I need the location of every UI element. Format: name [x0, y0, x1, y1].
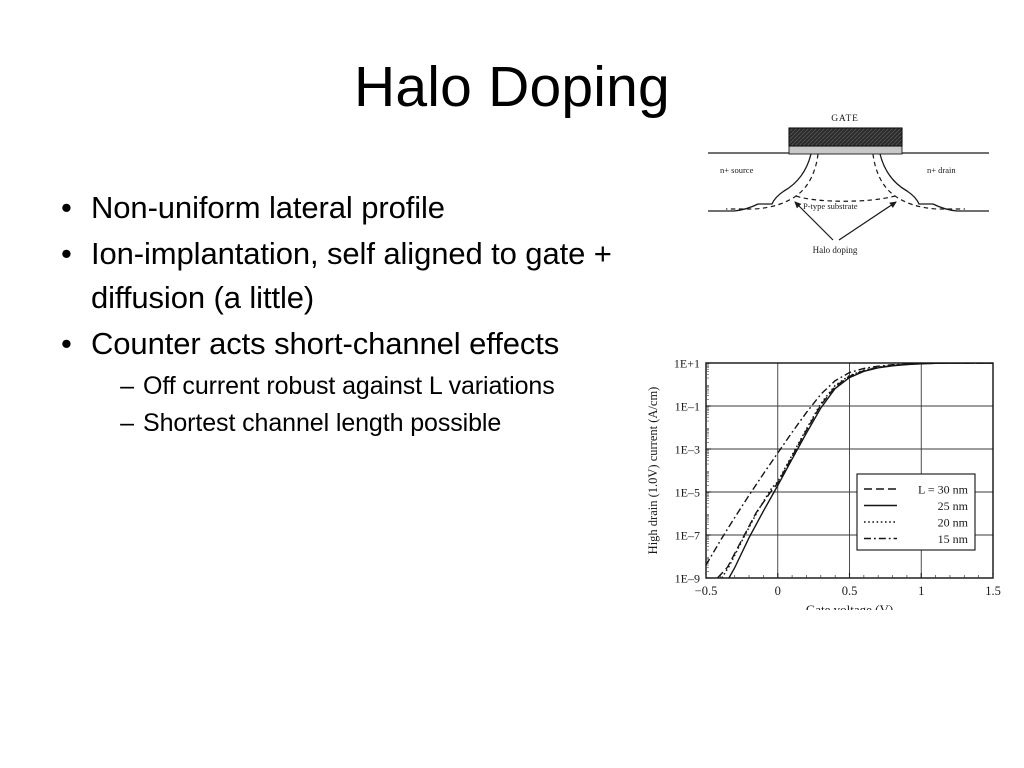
- sub-list-item: – Off current robust against L variation…: [55, 368, 655, 405]
- y-axis-label: High drain (1.0V) current (A/cm): [646, 387, 660, 555]
- bullet-list: • Non-uniform lateral profile • Ion-impl…: [55, 186, 655, 442]
- x-tick-label: 1.5: [985, 584, 1001, 598]
- chart-x-tick-labels: −0.500.511.5: [695, 584, 1001, 598]
- source-label: n+ source: [720, 165, 754, 175]
- list-item: • Ion-implantation, self aligned to gate…: [55, 232, 655, 320]
- bullet-text: Ion-implantation, self aligned to gate +…: [91, 232, 655, 320]
- dash-marker-icon: –: [55, 368, 143, 405]
- sub-bullet-text: Off current robust against L variations: [143, 368, 655, 405]
- gate-oxide-layer: [789, 146, 902, 154]
- legend-label-2: 20 nm: [938, 516, 969, 530]
- gate-electrode: [789, 128, 902, 146]
- legend-label-0: L = 30 nm: [918, 483, 969, 497]
- chart-legend: L = 30 nm25 nm20 nm15 nm: [857, 474, 975, 550]
- x-tick-label: 0: [775, 584, 781, 598]
- chart-y-tick-labels: 1E+11E–11E–31E–51E–71E–9: [674, 357, 700, 586]
- y-tick-label: 1E–5: [675, 486, 700, 500]
- y-tick-label: 1E–1: [675, 400, 700, 414]
- sub-list-item: – Shortest channel length possible: [55, 405, 655, 442]
- x-tick-label: −0.5: [695, 584, 718, 598]
- bullet-marker-icon: •: [55, 232, 91, 276]
- legend-label-1: 25 nm: [938, 499, 969, 513]
- x-axis-label: Gate voltage (V): [806, 602, 893, 610]
- drain-halo-contour: [873, 154, 965, 209]
- halo-doping-label: Halo doping: [813, 245, 858, 255]
- drain-junction-outline: [880, 154, 989, 211]
- drain-current-vs-gate-voltage-chart: −0.500.511.5 1E+11E–11E–31E–51E–71E–9 L …: [643, 348, 1003, 610]
- y-tick-label: 1E–7: [675, 529, 700, 543]
- gate-label: GATE: [831, 114, 858, 124]
- bullet-text: Counter acts short-channel effects: [91, 322, 655, 366]
- sub-bullet-text: Shortest channel length possible: [143, 405, 655, 442]
- x-tick-label: 0.5: [842, 584, 858, 598]
- x-tick-label: 1: [918, 584, 924, 598]
- y-tick-label: 1E+1: [674, 357, 700, 371]
- mosfet-cross-section-figure: GATE n+ source n+ drain P-type substrate…: [706, 107, 991, 262]
- legend-label-3: 15 nm: [938, 532, 969, 546]
- substrate-label: P-type substrate: [803, 201, 858, 211]
- y-tick-label: 1E–3: [675, 443, 700, 457]
- bullet-text: Non-uniform lateral profile: [91, 186, 655, 230]
- bullet-marker-icon: •: [55, 186, 91, 230]
- bullet-marker-icon: •: [55, 322, 91, 366]
- dash-marker-icon: –: [55, 405, 143, 442]
- list-item: • Counter acts short-channel effects: [55, 322, 655, 366]
- drain-label: n+ drain: [927, 165, 956, 175]
- list-item: • Non-uniform lateral profile: [55, 186, 655, 230]
- y-tick-label: 1E–9: [675, 572, 700, 586]
